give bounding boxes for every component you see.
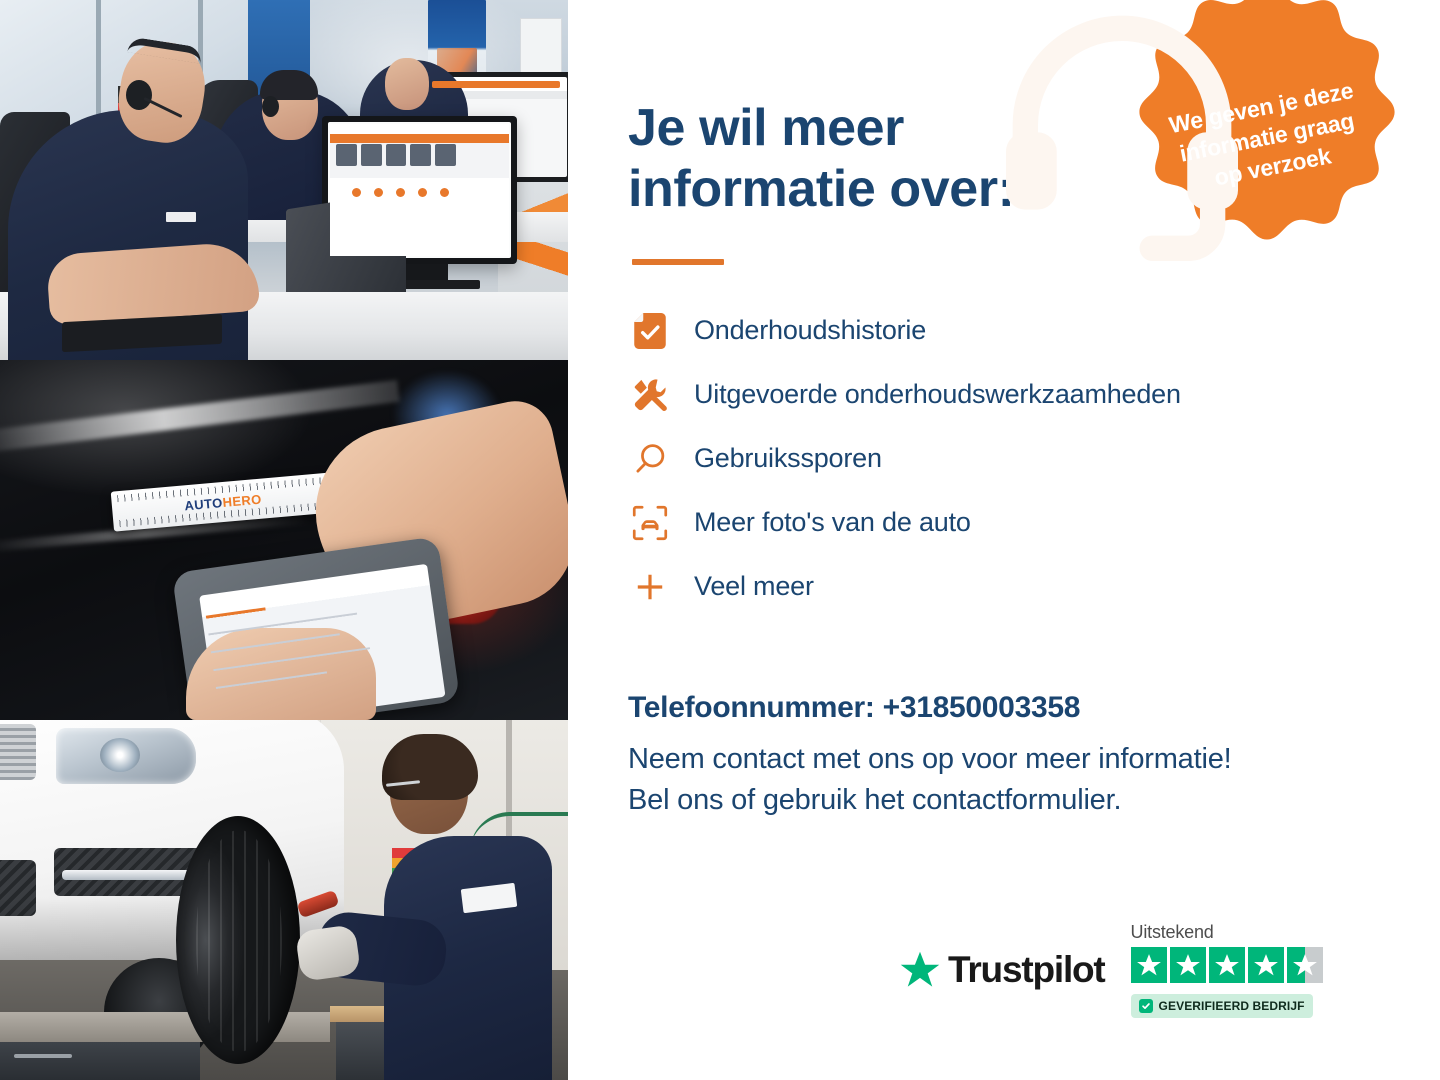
- headline-line-1: Je wil meer: [628, 99, 904, 157]
- trustpilot-rating-block: Uitstekend: [1131, 922, 1323, 1018]
- request-info-badge: We geven je deze informatie graag op ver…: [1122, 0, 1412, 270]
- plus-icon-glyph: [633, 570, 667, 604]
- list-item-label: Veel meer: [694, 571, 814, 602]
- verified-business-badge: GEVERIFIEERD BEDRIJF: [1131, 994, 1313, 1018]
- photo3-upper-grille: [0, 724, 36, 780]
- trustpilot-logo: Trustpilot: [898, 949, 1105, 991]
- plus-icon: [628, 565, 672, 609]
- list-item: Uitgevoerde onderhoudswerkzaamheden: [628, 363, 1380, 427]
- document-check-icon-glyph: [634, 313, 666, 349]
- magnifier-icon-glyph: [633, 442, 667, 476]
- star-filled: [1170, 947, 1206, 983]
- list-item: Meer foto's van de auto: [628, 491, 1380, 555]
- verified-business-label: GEVERIFIEERD BEDRIJF: [1159, 999, 1305, 1013]
- phone-number[interactable]: Telefoonnummer: +31850003358: [628, 691, 1380, 725]
- trustpilot-star-icon: [898, 949, 942, 991]
- list-item-label: Onderhoudshistorie: [694, 315, 926, 346]
- photo1-polo-logo: [166, 212, 196, 222]
- list-item: Veel meer: [628, 555, 1380, 619]
- trustpilot-widget[interactable]: Trustpilot Uitstekend: [898, 922, 1323, 1018]
- info-banner: AUTOHERO: [0, 0, 1440, 1080]
- photo-column: AUTOHERO: [0, 0, 568, 1080]
- list-item-label: Uitgevoerde onderhoudswerkzaamheden: [694, 379, 1181, 410]
- tools-icon: [628, 373, 672, 417]
- photo3-mechanic-hair: [382, 734, 478, 800]
- trustpilot-brand-name: Trustpilot: [948, 949, 1105, 991]
- list-item: Gebruikssporen: [628, 427, 1380, 491]
- star-half: [1287, 947, 1323, 983]
- contact-block: Telefoonnummer: +31850003358 Neem contac…: [628, 691, 1380, 821]
- photo1-agent-1-headset-cup: [126, 80, 152, 110]
- photo3-cabinet: [0, 1042, 200, 1080]
- document-check-icon: [628, 309, 672, 353]
- contact-line-1: Neem contact met ons op voor meer inform…: [628, 739, 1380, 780]
- content-panel: We geven je deze informatie graag op ver…: [568, 0, 1440, 1080]
- trustpilot-rating-word: Uitstekend: [1131, 922, 1323, 943]
- star-filled: [1248, 947, 1284, 983]
- star-filled: [1131, 947, 1167, 983]
- feature-list: Onderhoudshistorie Uitgevoerde onderhoud…: [628, 299, 1380, 619]
- list-item-label: Meer foto's van de auto: [694, 507, 971, 538]
- photo1-agent-1-arm: [46, 241, 260, 325]
- photo3-headlight: [56, 728, 196, 784]
- list-item-label: Gebruikssporen: [694, 443, 882, 474]
- photo1-wall-sheet: [520, 18, 562, 74]
- photo2-paint-highlight: [0, 380, 400, 454]
- photo1-screen-icons: [352, 188, 492, 197]
- car-inspection-ruler-photo: AUTOHERO: [0, 360, 568, 720]
- photo1-agent-3-head: [385, 58, 429, 110]
- mechanic-wheel-photo: [0, 720, 568, 1080]
- trustpilot-stars: [1131, 947, 1323, 983]
- photo3-tyre-tread: [196, 830, 282, 1052]
- check-square-icon: [1139, 999, 1153, 1013]
- car-scan-icon-glyph: [632, 505, 668, 541]
- call-center-agents-photo: [0, 0, 568, 360]
- car-scan-icon: [628, 501, 672, 545]
- photo1-back-monitor-bar: [432, 81, 560, 88]
- photo1-screen-thumbnails: [336, 144, 456, 166]
- tools-icon-glyph: [632, 377, 668, 413]
- contact-line-2: Bel ons of gebruik het contactformulier.: [628, 780, 1380, 821]
- headline-line-2: informatie over:: [628, 160, 1015, 218]
- list-item: Onderhoudshistorie: [628, 299, 1380, 363]
- title-divider: [632, 259, 724, 265]
- photo3-chrome-trim: [62, 870, 204, 880]
- star-filled: [1209, 947, 1245, 983]
- photo1-agent-2-headset: [262, 96, 279, 117]
- magnifier-icon: [628, 437, 672, 481]
